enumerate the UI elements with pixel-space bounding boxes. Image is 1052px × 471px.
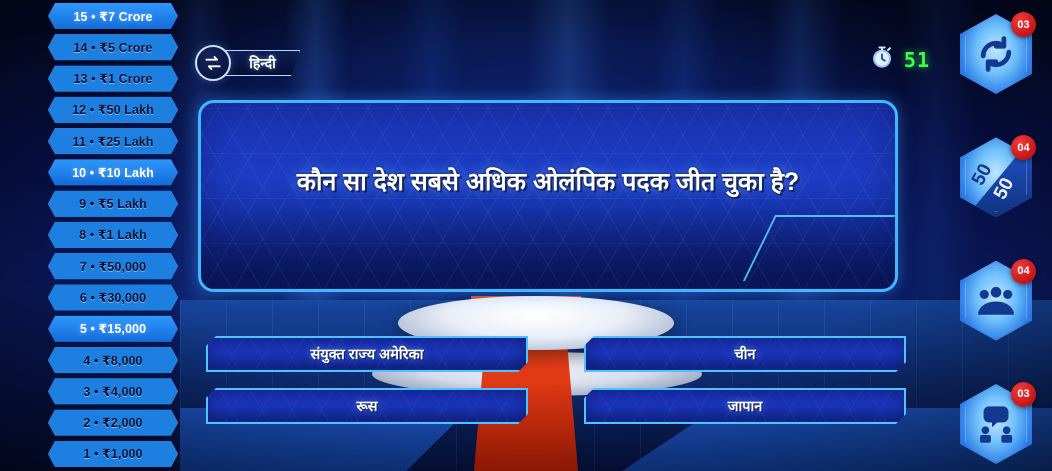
answer-option-label: संयुक्त राज्य अमेरिका	[310, 344, 423, 364]
lifeline-count-badge: 03	[1011, 12, 1036, 37]
question-panel: कौन सा देश सबसे अधिक ओलंपिक पदक जीत चुका…	[198, 100, 898, 292]
lifeline-count-badge: 04	[1011, 259, 1036, 284]
ladder-rung-7[interactable]: 7 • ₹50,000	[48, 253, 178, 279]
language-toggle[interactable]: हिन्दी	[195, 45, 300, 81]
answer-option-label: रूस	[356, 396, 377, 416]
ladder-rung-label: 10 • ₹10 Lakh	[72, 165, 154, 180]
ladder-rung-label: 11 • ₹25 Lakh	[72, 134, 153, 149]
ladder-rung-label: 2 • ₹2,000	[83, 415, 142, 430]
ladder-rung-12[interactable]: 12 • ₹50 Lakh	[48, 97, 178, 123]
ladder-rung-9[interactable]: 9 • ₹5 Lakh	[48, 191, 178, 217]
stopwatch-icon	[869, 44, 895, 75]
ladder-rung-label: 9 • ₹5 Lakh	[79, 196, 147, 211]
answer-option-D[interactable]: जापान	[584, 388, 906, 424]
ladder-rung-label: 7 • ₹50,000	[80, 259, 146, 274]
ladder-rung-label: 13 • ₹1 Crore	[74, 71, 153, 86]
ladder-rung-label: 6 • ₹30,000	[80, 290, 146, 305]
ladder-rung-2[interactable]: 2 • ₹2,000	[48, 410, 178, 436]
question-text: कौन सा देश सबसे अधिक ओलंपिक पदक जीत चुका…	[201, 103, 895, 289]
lifeline-count-badge: 03	[1011, 382, 1036, 407]
question-timer: 51	[869, 44, 930, 75]
answer-option-label: चीन	[734, 344, 755, 364]
lifeline-flip-question[interactable]: 03	[960, 14, 1032, 94]
ladder-rung-label: 8 • ₹1 Lakh	[79, 227, 147, 242]
ladder-rung-label: 4 • ₹8,000	[83, 353, 142, 368]
ladder-rung-14[interactable]: 14 • ₹5 Crore	[48, 34, 178, 60]
ladder-rung-label: 15 • ₹7 Crore	[74, 9, 153, 24]
ladder-rung-label: 12 • ₹50 Lakh	[72, 102, 154, 117]
ladder-rung-label: 1 • ₹1,000	[83, 446, 142, 461]
lifeline-fifty-fifty[interactable]: 505004	[960, 137, 1032, 217]
ladder-rung-label: 5 • ₹15,000	[80, 321, 146, 336]
lifeline-discuss[interactable]: 03	[960, 384, 1032, 464]
swap-icon[interactable]	[195, 45, 231, 81]
ladder-rung-3[interactable]: 3 • ₹4,000	[48, 378, 178, 404]
ladder-rung-13[interactable]: 13 • ₹1 Crore	[48, 66, 178, 92]
ladder-rung-15[interactable]: 15 • ₹7 Crore	[48, 3, 178, 29]
answer-option-C[interactable]: रूस	[206, 388, 528, 424]
ladder-rung-11[interactable]: 11 • ₹25 Lakh	[48, 128, 178, 154]
quiz-screen: 15 • ₹7 Crore14 • ₹5 Crore13 • ₹1 Crore1…	[0, 0, 1052, 471]
ladder-rung-label: 14 • ₹5 Crore	[74, 40, 153, 55]
answer-option-A[interactable]: संयुक्त राज्य अमेरिका	[206, 336, 528, 372]
lifeline-count-badge: 04	[1011, 135, 1036, 160]
answer-option-label: जापान	[728, 396, 763, 416]
lifeline-panel: 035050040403	[948, 14, 1044, 464]
language-label[interactable]: हिन्दी	[222, 50, 300, 76]
timer-value: 51	[904, 48, 930, 72]
ladder-rung-8[interactable]: 8 • ₹1 Lakh	[48, 222, 178, 248]
ladder-rung-label: 3 • ₹4,000	[83, 384, 142, 399]
ladder-rung-6[interactable]: 6 • ₹30,000	[48, 285, 178, 311]
answer-option-B[interactable]: चीन	[584, 336, 906, 372]
answer-options: संयुक्त राज्य अमेरिकाचीनरूसजापान	[206, 336, 906, 424]
ladder-rung-5[interactable]: 5 • ₹15,000	[48, 316, 178, 342]
lifeline-audience-poll[interactable]: 04	[960, 261, 1032, 341]
ladder-rung-4[interactable]: 4 • ₹8,000	[48, 347, 178, 373]
money-ladder: 15 • ₹7 Crore14 • ₹5 Crore13 • ₹1 Crore1…	[48, 0, 178, 471]
ladder-rung-10[interactable]: 10 • ₹10 Lakh	[48, 159, 178, 185]
ladder-rung-1[interactable]: 1 • ₹1,000	[48, 441, 178, 467]
